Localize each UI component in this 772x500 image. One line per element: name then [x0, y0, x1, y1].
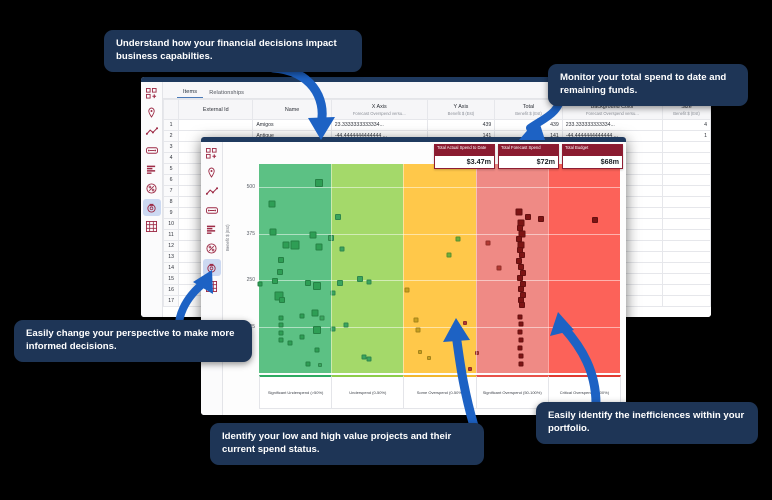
column-header[interactable]: External Id — [179, 100, 253, 120]
arrow-to-red-cluster — [540, 310, 612, 408]
link-icon[interactable] — [203, 202, 221, 219]
callout-financial-decisions: Understand how your financial decisions … — [104, 30, 362, 72]
scatter-point[interactable] — [361, 355, 366, 360]
table-cell[interactable]: 4 — [663, 120, 711, 131]
scatter-point[interactable] — [455, 237, 460, 242]
trend-line-icon[interactable] — [143, 123, 161, 140]
kpi-value: $72m — [499, 156, 558, 168]
scatter-point[interactable] — [278, 257, 284, 263]
scatter-point[interactable] — [486, 240, 491, 245]
scatter-point[interactable] — [519, 321, 524, 326]
table-cell[interactable]: 1 — [164, 120, 179, 131]
table-icon[interactable] — [143, 218, 161, 235]
scatter-point[interactable] — [518, 330, 523, 335]
percent-icon[interactable] — [203, 240, 221, 257]
y-axis-tick: 375 — [247, 231, 255, 237]
arrow-to-plot-center — [430, 318, 496, 430]
bar-chart-icon[interactable] — [203, 221, 221, 238]
percent-icon[interactable] — [143, 180, 161, 197]
scatter-point[interactable] — [414, 318, 419, 323]
column-header[interactable]: Y AxisBenefit $ (Est) — [427, 100, 495, 120]
table-cell[interactable]: 5 — [164, 164, 179, 175]
table-cell[interactable]: 1 — [663, 131, 711, 142]
bubble-chart-icon[interactable] — [143, 199, 161, 216]
tab-relationships[interactable]: Relationships — [203, 90, 250, 98]
scatter-point[interactable] — [278, 338, 283, 343]
scatter-point[interactable] — [320, 315, 325, 320]
table-cell[interactable] — [179, 120, 253, 131]
scatter-point[interactable] — [519, 302, 525, 308]
table-cell[interactable]: 2 — [164, 131, 179, 142]
scatter-point[interactable] — [291, 241, 300, 250]
table-cell[interactable]: 13 — [164, 252, 179, 263]
band-divider — [331, 164, 332, 373]
gridline — [259, 187, 620, 188]
column-title: Y Axis — [431, 104, 492, 110]
scatter-point[interactable] — [446, 252, 451, 257]
callout-change-perspective: Easily change your perspective to make m… — [14, 320, 252, 362]
scatter-point[interactable] — [343, 322, 348, 327]
y-axis-label: Benefit $ (Est) — [225, 225, 230, 252]
table-cell[interactable] — [663, 186, 711, 197]
scatter-point[interactable] — [337, 280, 343, 286]
scatter-point[interactable] — [519, 353, 524, 358]
scatter-point[interactable] — [277, 269, 283, 275]
table-cell[interactable]: 8 — [164, 197, 179, 208]
callout-identify-projects: Identify your low and high value project… — [210, 423, 484, 465]
table-cell[interactable]: 439 — [427, 120, 495, 131]
table-cell[interactable]: 233.333333333334... — [562, 120, 662, 131]
band-divider — [403, 164, 404, 373]
scatter-point[interactable] — [310, 232, 317, 239]
table-cell[interactable] — [663, 197, 711, 208]
x-axis-category: Significant Underspend (>50%) — [259, 375, 332, 409]
kpi-title: Total Budget — [563, 145, 622, 156]
scatter-point[interactable] — [518, 315, 523, 320]
x-axis-category: Underspend (0-50%) — [331, 375, 404, 409]
scatter-point[interactable] — [518, 362, 523, 367]
table-cell[interactable] — [663, 296, 711, 307]
scatter-point[interactable] — [272, 278, 278, 284]
tab-items[interactable]: Items — [177, 89, 203, 98]
table-cell[interactable] — [663, 164, 711, 175]
column-subtitle: Forecast Overspend versu... — [566, 111, 659, 116]
table-cell[interactable] — [663, 230, 711, 241]
table-cell[interactable] — [663, 285, 711, 296]
scatter-point[interactable] — [340, 247, 345, 252]
y-axis-tick: 500 — [247, 184, 255, 190]
table-cell[interactable] — [663, 263, 711, 274]
scatter-point[interactable] — [315, 179, 323, 187]
scatter-point[interactable] — [300, 334, 305, 339]
table-cell[interactable] — [663, 153, 711, 164]
grid-add-icon[interactable] — [203, 145, 221, 162]
scatter-point[interactable] — [518, 345, 523, 350]
scatter-point[interactable] — [270, 228, 277, 235]
scatter-point[interactable] — [305, 361, 310, 366]
scatter-point[interactable] — [279, 297, 285, 303]
scatter-point[interactable] — [283, 241, 290, 248]
scatter-point[interactable] — [538, 216, 544, 222]
table-cell[interactable]: 11 — [164, 230, 179, 241]
band-underspend — [331, 164, 403, 373]
table-cell[interactable]: 4 — [164, 153, 179, 164]
scatter-point[interactable] — [525, 214, 531, 220]
scatter-point[interactable] — [300, 314, 305, 319]
table-cell[interactable] — [663, 274, 711, 285]
table-cell[interactable]: 3 — [164, 142, 179, 153]
pin-icon[interactable] — [203, 164, 221, 181]
scatter-point[interactable] — [367, 356, 372, 361]
scatter-point[interactable] — [515, 209, 522, 216]
y-axis-tick: 250 — [247, 277, 255, 283]
table-cell[interactable] — [663, 241, 711, 252]
callout-identify-inefficiencies: Easily identify the inefficiences within… — [536, 402, 758, 444]
scatter-point[interactable] — [592, 217, 598, 223]
kpi-card: Total Budget$68m — [562, 144, 623, 169]
column-title: External Id — [182, 107, 249, 113]
trend-line-icon[interactable] — [203, 183, 221, 200]
table-cell[interactable]: 9 — [164, 208, 179, 219]
scatter-point[interactable] — [418, 350, 422, 354]
table-cell[interactable] — [663, 142, 711, 153]
scatter-point[interactable] — [367, 280, 372, 285]
kpi-title: Total Actual Spend to Date — [435, 145, 494, 156]
kpi-card: Total Actual Spend to Date$3.47m — [434, 144, 495, 169]
table-cell[interactable]: 12 — [164, 241, 179, 252]
scatter-point[interactable] — [311, 310, 318, 317]
band-significant-underspend — [259, 164, 331, 373]
scatter-point[interactable] — [278, 323, 283, 328]
scatter-point[interactable] — [315, 243, 322, 250]
scatter-point[interactable] — [268, 200, 275, 207]
kpi-value: $3.47m — [435, 156, 494, 168]
callout-monitor-spend: Monitor your total spend to date and rem… — [548, 64, 748, 106]
table-cell[interactable]: 7 — [164, 186, 179, 197]
grid-add-icon[interactable] — [143, 85, 161, 102]
pin-icon[interactable] — [143, 104, 161, 121]
kpi-value: $68m — [563, 156, 622, 168]
scatter-point[interactable] — [405, 288, 410, 293]
scatter-point[interactable] — [287, 340, 292, 345]
scatter-point[interactable] — [258, 281, 263, 286]
table-cell[interactable] — [663, 219, 711, 230]
link-icon[interactable] — [143, 142, 161, 159]
scatter-point[interactable] — [335, 214, 341, 220]
table-cell[interactable] — [663, 252, 711, 263]
bar-chart-icon[interactable] — [143, 161, 161, 178]
scatter-point[interactable] — [278, 330, 283, 335]
table-cell[interactable] — [663, 208, 711, 219]
column-subtitle: Benefit $ (Est) — [431, 111, 492, 116]
scatter-point[interactable] — [357, 276, 363, 282]
scatter-point[interactable] — [318, 363, 322, 367]
arrow-to-table — [265, 62, 355, 147]
scatter-point[interactable] — [313, 326, 321, 334]
scatter-point[interactable] — [305, 280, 311, 286]
scatter-point[interactable] — [313, 282, 321, 290]
scatter-point[interactable] — [415, 328, 420, 333]
table-cell[interactable]: 10 — [164, 219, 179, 230]
tool-rail[interactable] — [141, 82, 163, 317]
scatter-point[interactable] — [278, 315, 283, 320]
scatter-point[interactable] — [497, 265, 502, 270]
scatter-point[interactable] — [314, 347, 319, 352]
column-subtitle: Benefit $ (Est) — [666, 111, 707, 116]
table-cell[interactable]: 6 — [164, 175, 179, 186]
scatter-point[interactable] — [519, 337, 524, 342]
table-cell[interactable] — [663, 175, 711, 186]
row-number-header — [164, 100, 179, 120]
table-row[interactable]: 1Amigos23.3333333333334...439439233.3333… — [164, 120, 711, 131]
screenshot-stage: Items Relationships Download External Id… — [0, 0, 772, 500]
